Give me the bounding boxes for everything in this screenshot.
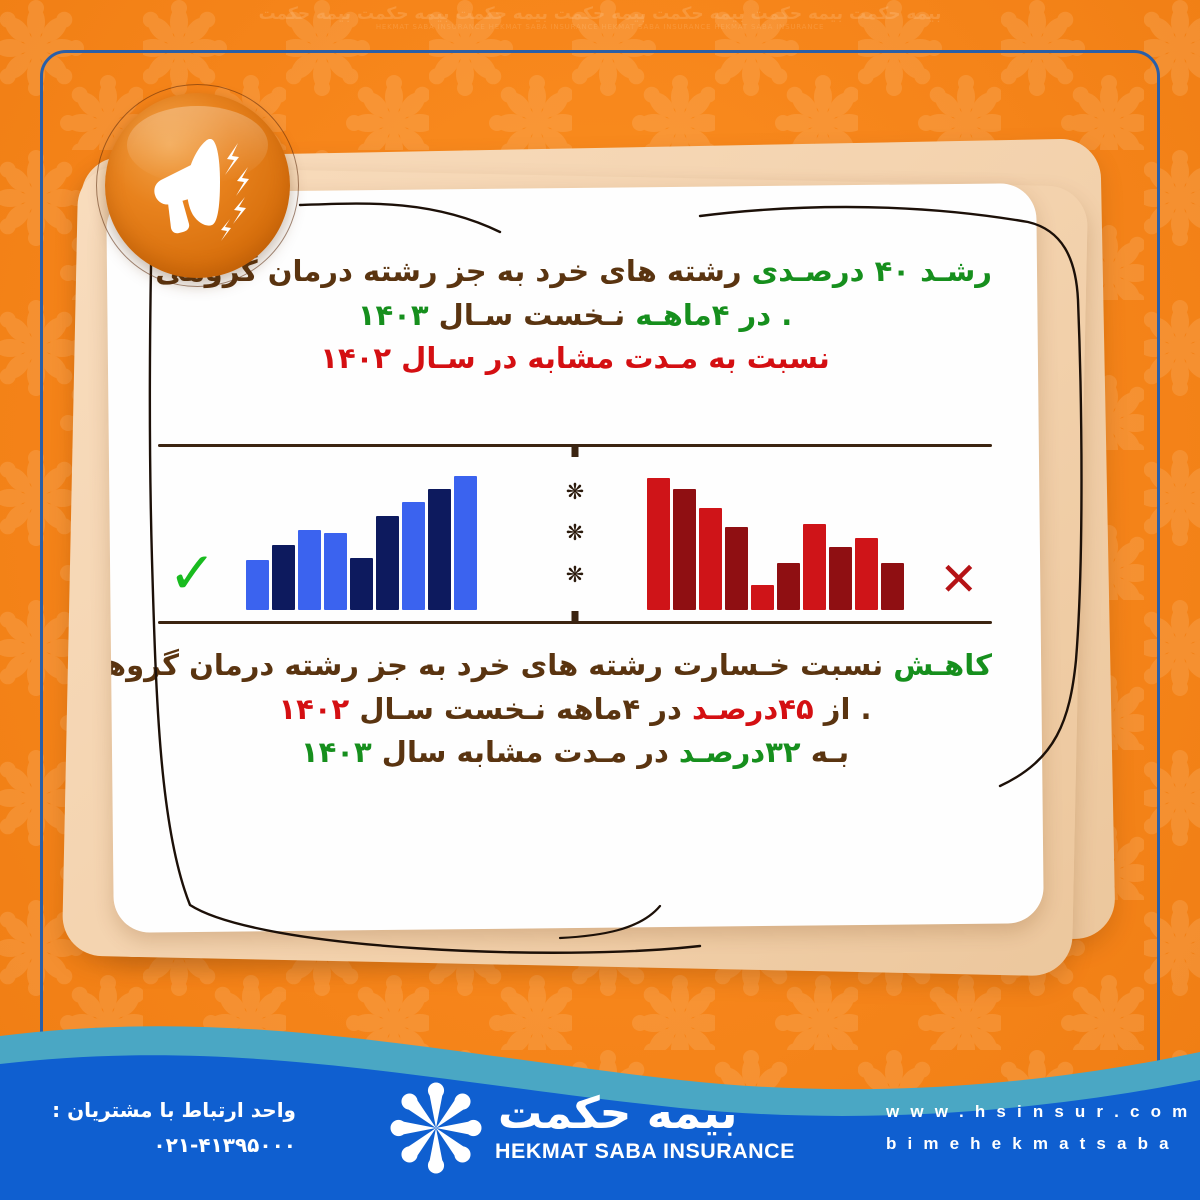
bar	[402, 502, 425, 610]
social-handle[interactable]: b i m e h e k m a t s a b a	[886, 1128, 1200, 1159]
bar	[298, 530, 321, 610]
headline-top-line-2: . در ۴ماهـه نـخست سـال ۱۴۰۳	[158, 294, 992, 338]
chart-rule-bottom	[158, 621, 992, 624]
headline-top-seg: رشـد ۴۰ درصـدی	[742, 254, 992, 288]
megaphone-badge	[105, 93, 290, 278]
bar	[881, 563, 904, 610]
bar	[803, 524, 826, 610]
headline-bottom-seg: . از	[814, 692, 872, 726]
headline-top-seg: نسبت به مـدت مشابه در سـال ۱۴۰۲	[320, 341, 829, 375]
logo-fa-text: بیمه حکمت	[498, 1092, 737, 1136]
headline-bottom-seg: کاهـش	[883, 648, 992, 682]
poster-root: بیمه حکمت بیمه حکمت بیمه حکمت بیمه حکمت …	[0, 0, 1200, 1200]
badge-gloss	[127, 106, 268, 184]
bar	[777, 563, 800, 610]
support-label: واحد ارتباط با مشتریان :	[0, 1093, 296, 1128]
check-mark-icon: ✓	[168, 544, 217, 602]
headline-bottom: کاهـش نسبت خـسارت رشته های خرد به جز رشت…	[158, 644, 992, 775]
bar	[350, 558, 373, 610]
comparison-bar-chart: ❋❋❋ ✕ ✓	[158, 444, 992, 624]
bar	[376, 516, 399, 610]
chart-rule-top	[158, 444, 992, 447]
support-phone[interactable]: ۰۲۱-۴۱۳۹۵۰۰۰	[0, 1128, 296, 1163]
brand-starburst-icon	[388, 1080, 484, 1176]
footer-content: w w w . h s i n s u r . c o m b i m e h …	[0, 1055, 1200, 1200]
logo-en-text: HEKMAT SABA INSURANCE	[495, 1140, 795, 1164]
headline-top-seg: نـخست سـال	[429, 298, 626, 332]
bar-group-good-year	[246, 472, 477, 610]
chart-rule-tick	[572, 444, 579, 457]
headline-top: رشـد ۴۰ درصـدی رشته های خرد به جز رشته د…	[158, 250, 992, 381]
footer-links: w w w . h s i n s u r . c o m b i m e h …	[840, 1096, 1200, 1159]
headline-bottom-seg: نسبت خـسارت رشته های خرد به جز رشته درما…	[106, 648, 883, 682]
website-link[interactable]: w w w . h s i n s u r . c o m	[886, 1096, 1200, 1127]
headline-top-seg: ۱۴۰۳	[358, 298, 429, 332]
bar	[428, 489, 451, 610]
bar-group-bad-year	[647, 472, 904, 610]
chart-separator-dots: ❋❋❋	[562, 462, 588, 606]
bar	[647, 478, 670, 610]
bar	[324, 533, 347, 610]
bar	[272, 545, 295, 610]
headline-top-seg: . در ۴ماهـه	[625, 298, 792, 332]
headline-top-line-1: رشـد ۴۰ درصـدی رشته های خرد به جز رشته د…	[158, 250, 992, 294]
headline-bottom-seg: ۴۵درصـد	[682, 692, 814, 726]
bar	[855, 538, 878, 610]
bar	[454, 476, 477, 610]
headline-bottom-line-3: بـه ۳۲درصـد در مـدت مشابه سال ۱۴۰۳	[158, 731, 992, 775]
main-white-card: رشـد ۴۰ درصـدی رشته های خرد به جز رشته د…	[106, 183, 1044, 933]
logo-lockup: بیمه حکمت HEKMAT SABA INSURANCE	[498, 1092, 792, 1164]
headline-bottom-seg: ۱۴۰۳	[301, 735, 372, 769]
separator-dot: ❋	[566, 523, 584, 545]
footer-logo: بیمه حکمت HEKMAT SABA INSURANCE	[340, 1080, 840, 1176]
bar	[751, 585, 774, 610]
headline-bottom-seg: ۳۲درصـد	[669, 735, 801, 769]
watermark-fa: بیمه حکمت بیمه حکمت بیمه حکمت بیمه حکمت …	[259, 4, 942, 24]
bar	[725, 527, 748, 610]
headline-bottom-seg: ۱۴۰۲	[278, 692, 349, 726]
chart-rule-tick	[572, 611, 579, 624]
bar	[699, 508, 722, 610]
headline-bottom-seg: در ۴ماهه نـخست سـال	[349, 692, 682, 726]
headline-bottom-line-2: . از ۴۵درصـد در ۴ماهه نـخست سـال ۱۴۰۲	[158, 688, 992, 732]
bar	[829, 547, 852, 610]
headline-top-line-3: نسبت به مـدت مشابه در سـال ۱۴۰۲	[158, 337, 992, 381]
headline-bottom-seg: بـه	[801, 735, 849, 769]
x-mark-icon: ✕	[939, 556, 978, 602]
bar	[246, 560, 269, 610]
footer-support: واحد ارتباط با مشتریان : ۰۲۱-۴۱۳۹۵۰۰۰	[0, 1093, 340, 1163]
watermark-en: HEKMAT SABA INSURANCE HEKMAT SABA INSURA…	[0, 24, 1200, 31]
headline-bottom-seg: در مـدت مشابه سال	[372, 735, 669, 769]
bar	[673, 489, 696, 610]
separator-dot: ❋	[566, 482, 584, 504]
headline-bottom-line-1: کاهـش نسبت خـسارت رشته های خرد به جز رشت…	[158, 644, 992, 688]
separator-dot: ❋	[566, 565, 584, 587]
